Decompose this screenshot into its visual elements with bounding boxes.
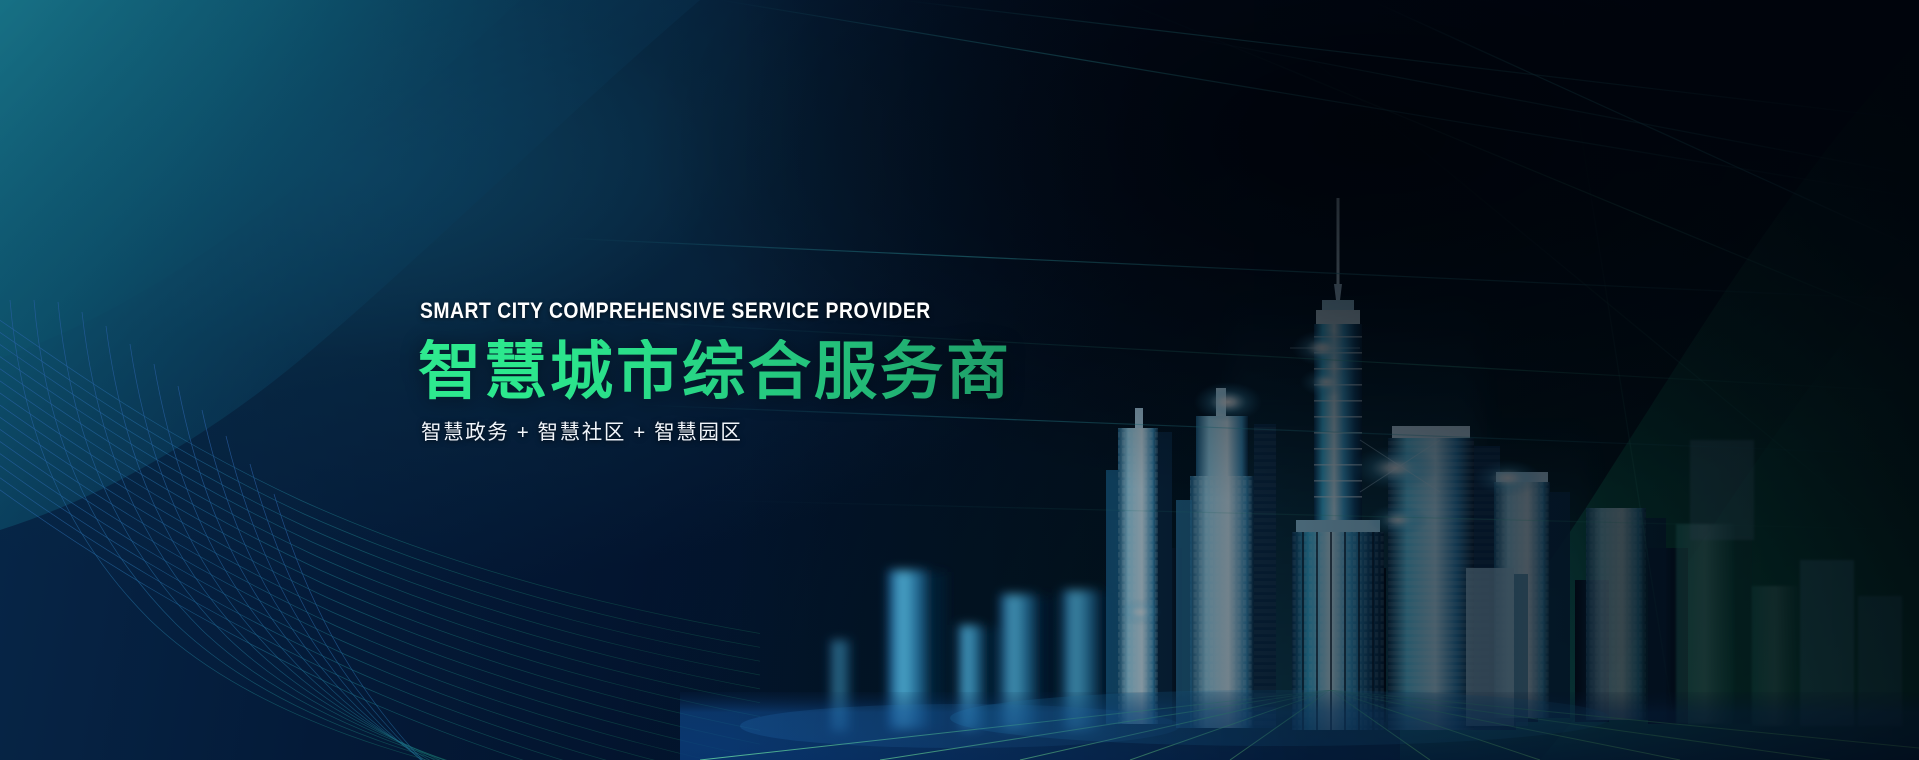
eyebrow-tagline: SMART CITY COMPREHENSIVE SERVICE PROVIDE…: [420, 300, 1072, 323]
subtitle-services: 智慧政务 + 智慧社区 + 智慧园区: [421, 423, 1178, 444]
smart-city-hero-banner: SMART CITY COMPREHENSIVE SERVICE PROVIDE…: [0, 0, 1919, 760]
hero-copy-block: SMART CITY COMPREHENSIVE SERVICE PROVIDE…: [418, 300, 1178, 443]
page-title: 智慧城市综合服务商: [418, 339, 1178, 405]
